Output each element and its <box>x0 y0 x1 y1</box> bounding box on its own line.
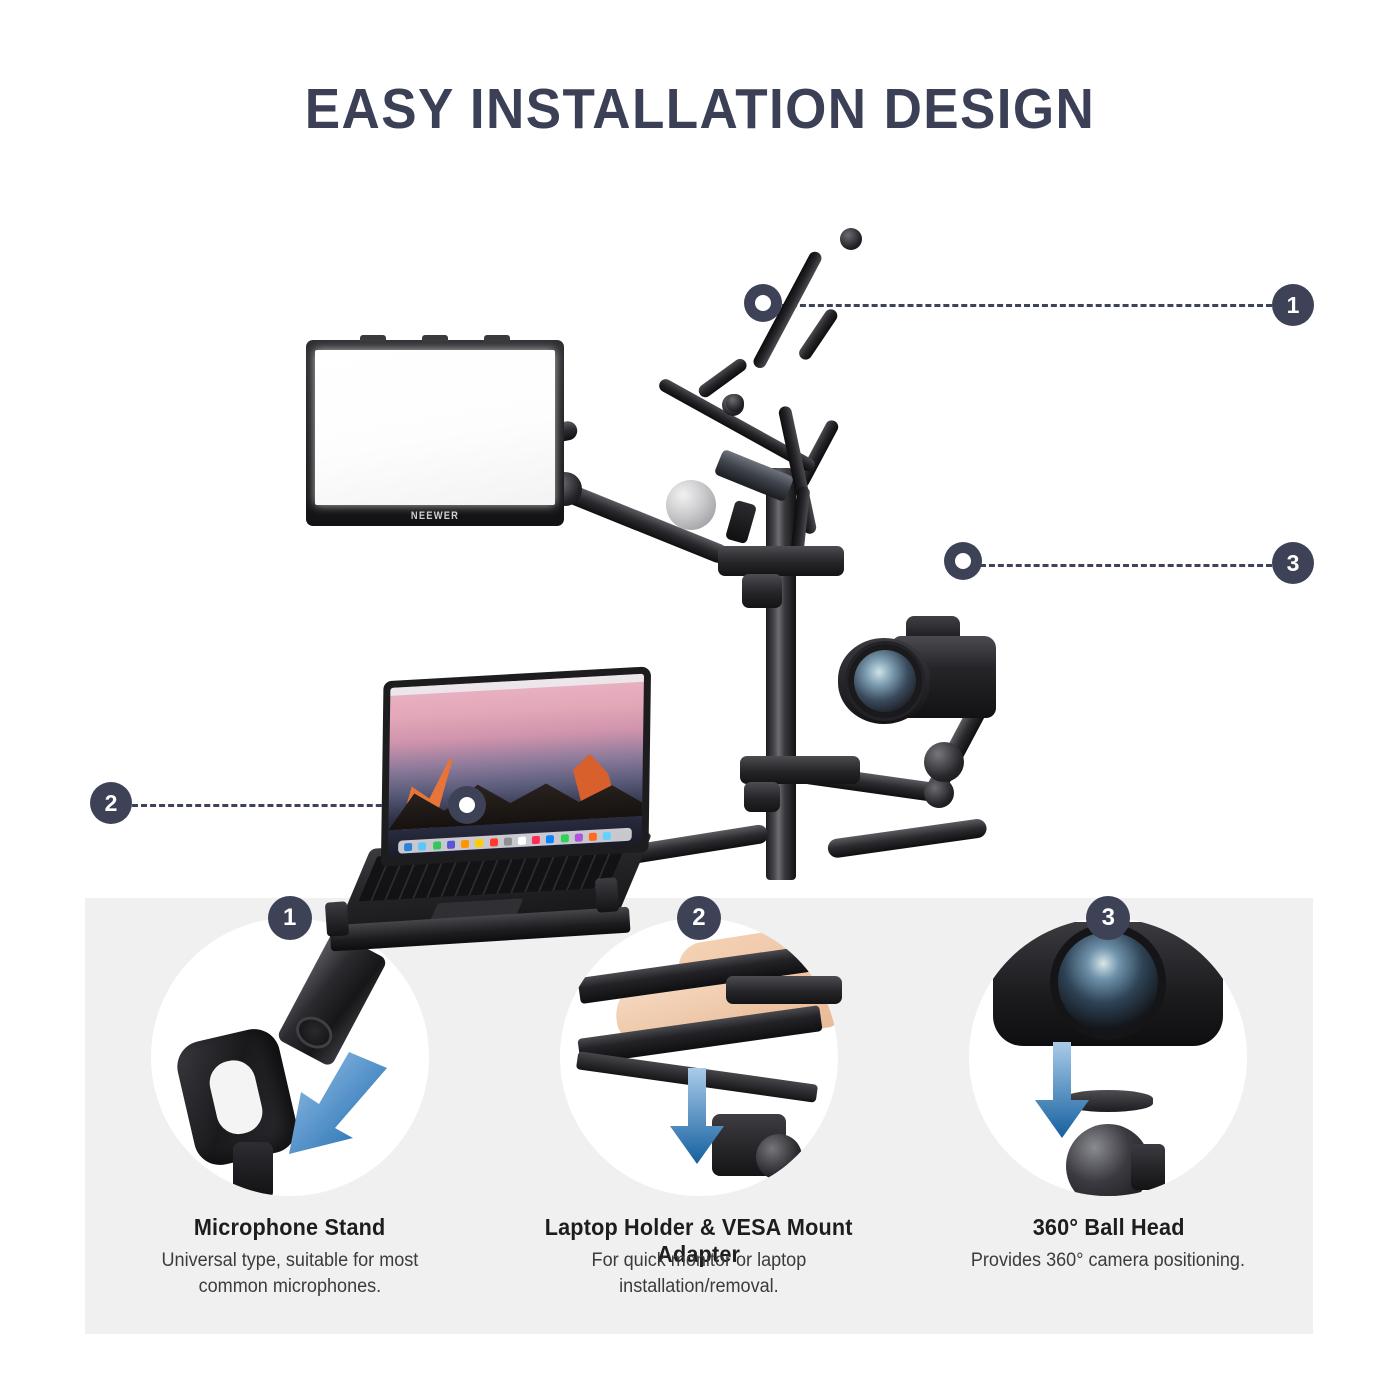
laptop-tray-lip-left <box>325 901 349 936</box>
feature-photo-3 <box>969 918 1247 1196</box>
feature-card-list: 1 Microphone Stand Universal type, suita… <box>85 898 1313 1334</box>
vesa-ball-joint <box>756 1134 802 1180</box>
upper-arm-clamp <box>718 546 844 576</box>
feature-title-1: Microphone Stand <box>97 1214 482 1241</box>
install-arrow-3-icon <box>1031 1042 1093 1140</box>
anchor-ring-laptop-holder <box>448 786 486 824</box>
lower-arm-clamp <box>740 756 860 784</box>
anchor-ring-ball-head <box>944 542 982 580</box>
feature-description-3: Provides 360° camera positioning. <box>945 1248 1272 1274</box>
laptop-wallpaper <box>388 674 644 858</box>
feature-description-2: For quick monitor or laptop installation… <box>536 1248 863 1300</box>
microphone-clip <box>725 500 757 545</box>
led-diffuser <box>315 350 555 505</box>
feature-panel: 1 Microphone Stand Universal type, suita… <box>85 898 1313 1334</box>
boom-link-top <box>797 307 840 362</box>
feature-badge-3: 3 <box>1086 896 1130 940</box>
boom-joint-clip <box>726 394 744 412</box>
ball-head-lock-knob <box>1131 1144 1165 1190</box>
feature-card-ball-head: 3 360° Ball Head Provides 360° camera po… <box>904 898 1313 1334</box>
upper-clamp-knob <box>742 574 782 608</box>
leader-line-1 <box>782 304 1272 307</box>
product-art: NEEWER <box>0 150 1400 910</box>
install-arrow-1-icon <box>279 1050 399 1160</box>
install-arrow-2-icon <box>666 1068 728 1166</box>
feature-title-3: 360° Ball Head <box>916 1214 1301 1241</box>
microphone-clip-stem <box>233 1142 273 1196</box>
bottom-arm-clamp <box>726 976 842 1004</box>
camera-lens-glass <box>848 644 922 718</box>
leader-line-3 <box>980 564 1272 567</box>
led-brand-label: NEEWER <box>325 510 544 522</box>
feature-card-laptop-holder: 2 Laptop Holder & VESA Mount Adapter For… <box>494 898 903 1334</box>
led-nub-right <box>484 335 510 342</box>
macos-dock <box>398 828 631 854</box>
camera-lens-glass-icon <box>1050 924 1166 1040</box>
anchor-ring-microphone <box>744 284 782 322</box>
led-light-panel: NEEWER <box>306 340 564 526</box>
mic-clip-stem <box>696 356 749 399</box>
feature-photo-2 <box>560 918 838 1196</box>
feature-badge-2: 2 <box>677 896 721 940</box>
callout-badge-2[interactable]: 2 <box>90 782 132 824</box>
camera-support-arm <box>827 818 988 859</box>
hero-product-illustration: NEEWER <box>0 150 1400 910</box>
feature-card-microphone-stand: 1 Microphone Stand Universal type, suita… <box>85 898 494 1334</box>
macos-menubar <box>390 674 644 696</box>
led-nub-center <box>422 335 448 342</box>
laptop-tray-lip-right <box>595 877 619 912</box>
led-nub-left <box>360 335 386 342</box>
feature-description-1: Universal type, suitable for most common… <box>126 1248 453 1300</box>
camera-ball-head <box>924 742 964 782</box>
laptop-screen <box>381 666 651 866</box>
lower-clamp-knob <box>744 782 780 812</box>
boom-joint-top <box>840 228 862 250</box>
feature-photo-1 <box>151 918 429 1196</box>
microphone-grille <box>666 480 716 530</box>
camera-arm-elbow-joint <box>924 778 954 808</box>
xlr-connector-icon <box>276 931 388 1068</box>
callout-badge-3[interactable]: 3 <box>1272 542 1314 584</box>
infographic-page: EASY INSTALLATION DESIGN <box>0 0 1400 1400</box>
callout-badge-1[interactable]: 1 <box>1272 284 1314 326</box>
feature-badge-1: 1 <box>268 896 312 940</box>
page-title: EASY INSTALLATION DESIGN <box>49 76 1351 142</box>
